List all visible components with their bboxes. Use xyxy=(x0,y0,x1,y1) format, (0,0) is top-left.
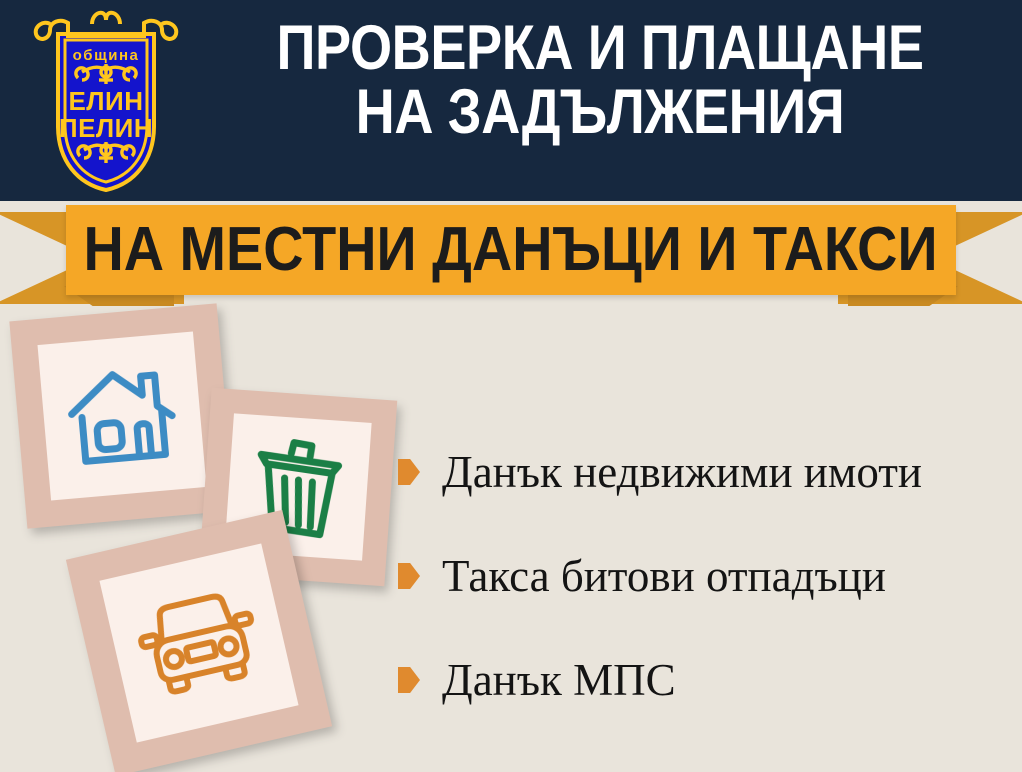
stamp-collage xyxy=(0,300,420,772)
logo-name-line2: ПЕЛИН xyxy=(59,113,153,143)
stamp-paper xyxy=(37,331,206,500)
car-front-icon xyxy=(130,585,268,702)
stamp-property-tax xyxy=(9,303,234,528)
arrow-bullet-icon xyxy=(398,563,420,589)
ribbon-band: НА МЕСТНИ ДАНЪЦИ И ТАКСИ xyxy=(66,205,956,295)
ribbon-label: НА МЕСТНИ ДАНЪЦИ И ТАКСИ xyxy=(84,219,938,281)
list-item[interactable]: Такса битови отпадъци xyxy=(398,524,1010,628)
service-label: Такса битови отпадъци xyxy=(442,554,886,599)
poster: община ЕЛИН ПЕЛИН ПРОВЕРКА И ПЛАЩАНЕ НА … xyxy=(0,0,1022,772)
logo-top-text: община xyxy=(73,47,140,64)
house-icon xyxy=(62,359,183,472)
header-banner: община ЕЛИН ПЕЛИН ПРОВЕРКА И ПЛАЩАНЕ НА … xyxy=(0,0,1022,201)
arrow-bullet-icon xyxy=(398,459,420,485)
page-title: ПРОВЕРКА И ПЛАЩАНЕ НА ЗАДЪЛЖЕНИЯ xyxy=(247,16,952,145)
service-list: Данък недвижими имоти Такса битови отпад… xyxy=(398,420,1010,732)
service-label: Данък МПС xyxy=(442,658,676,703)
service-label: Данък недвижими имоти xyxy=(442,450,922,495)
logo-name-line1: ЕЛИН xyxy=(68,86,143,116)
list-item[interactable]: Данък недвижими имоти xyxy=(398,420,1010,524)
subtitle-ribbon: НА МЕСТНИ ДАНЪЦИ И ТАКСИ xyxy=(0,198,1022,310)
municipality-logo: община ЕЛИН ПЕЛИН xyxy=(30,6,182,196)
arrow-bullet-icon xyxy=(398,667,420,693)
coat-of-arms-icon: община ЕЛИН ПЕЛИН xyxy=(30,6,182,196)
list-item[interactable]: Данък МПС xyxy=(398,628,1010,732)
